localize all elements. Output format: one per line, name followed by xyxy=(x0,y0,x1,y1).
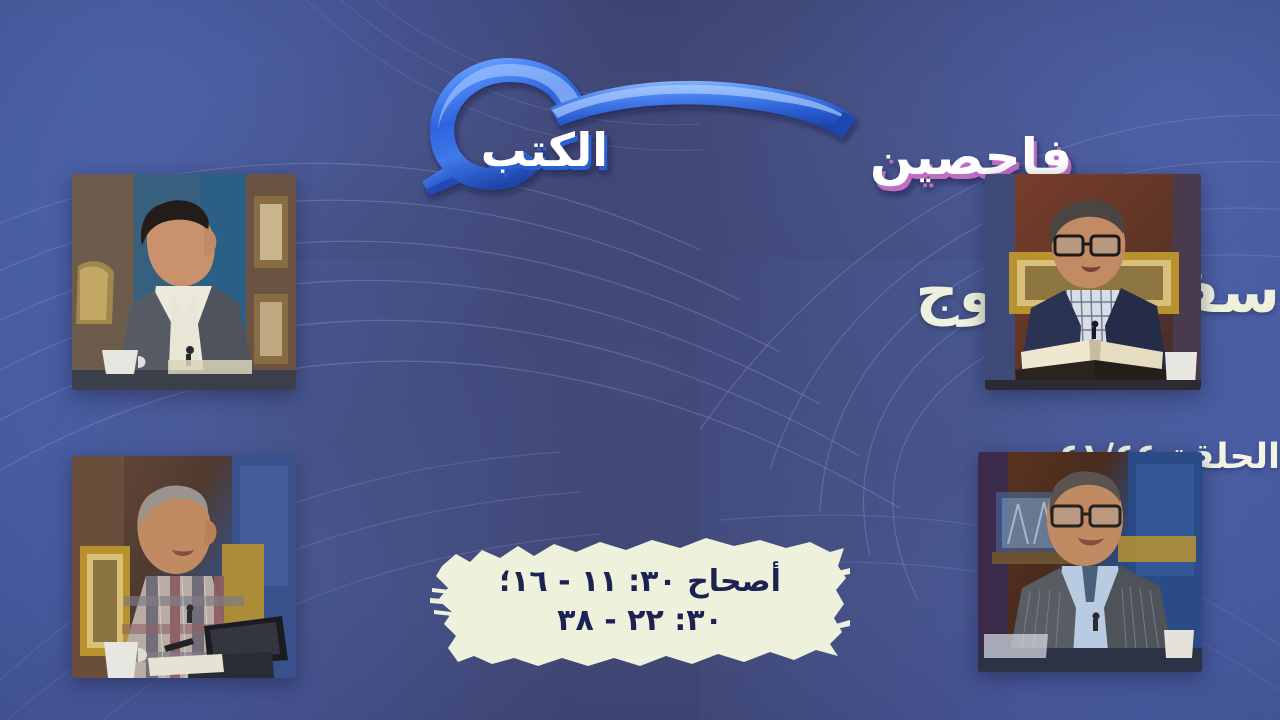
panelist-photo-bottom-right xyxy=(978,452,1202,672)
panelist-photo-top-left xyxy=(72,174,296,390)
panelist-photo-bottom-right-image xyxy=(978,452,1202,672)
scripture-reference-line-2: ٣٠: ٢٢ - ٣٨ xyxy=(557,603,723,640)
scripture-reference-line-1: أصحاح ٣٠: ١١ - ١٦؛ xyxy=(499,564,781,601)
panelist-photo-bottom-left xyxy=(72,456,296,678)
svg-text:الكتب: الكتب xyxy=(481,123,608,177)
panelist-photo-top-right xyxy=(985,174,1201,390)
program-logo: الكتب الكتب فاحصين فاحصين xyxy=(400,34,880,204)
logo-word-secondary: الكتب الكتب xyxy=(481,123,611,181)
scripture-reference-plate: أصحاح ٣٠: ١١ - ١٦؛ ٣٠: ٢٢ - ٣٨ xyxy=(430,532,850,672)
panelist-photo-top-left-image xyxy=(72,174,296,390)
broadcast-title-card: الكتب الكتب فاحصين فاحصين سفر الخروج الح… xyxy=(0,0,1280,720)
panelist-photo-bottom-left-image xyxy=(72,456,296,678)
scripture-reference-text: أصحاح ٣٠: ١١ - ١٦؛ ٣٠: ٢٢ - ٣٨ xyxy=(430,532,850,672)
panelist-photo-top-right-image xyxy=(985,174,1201,390)
